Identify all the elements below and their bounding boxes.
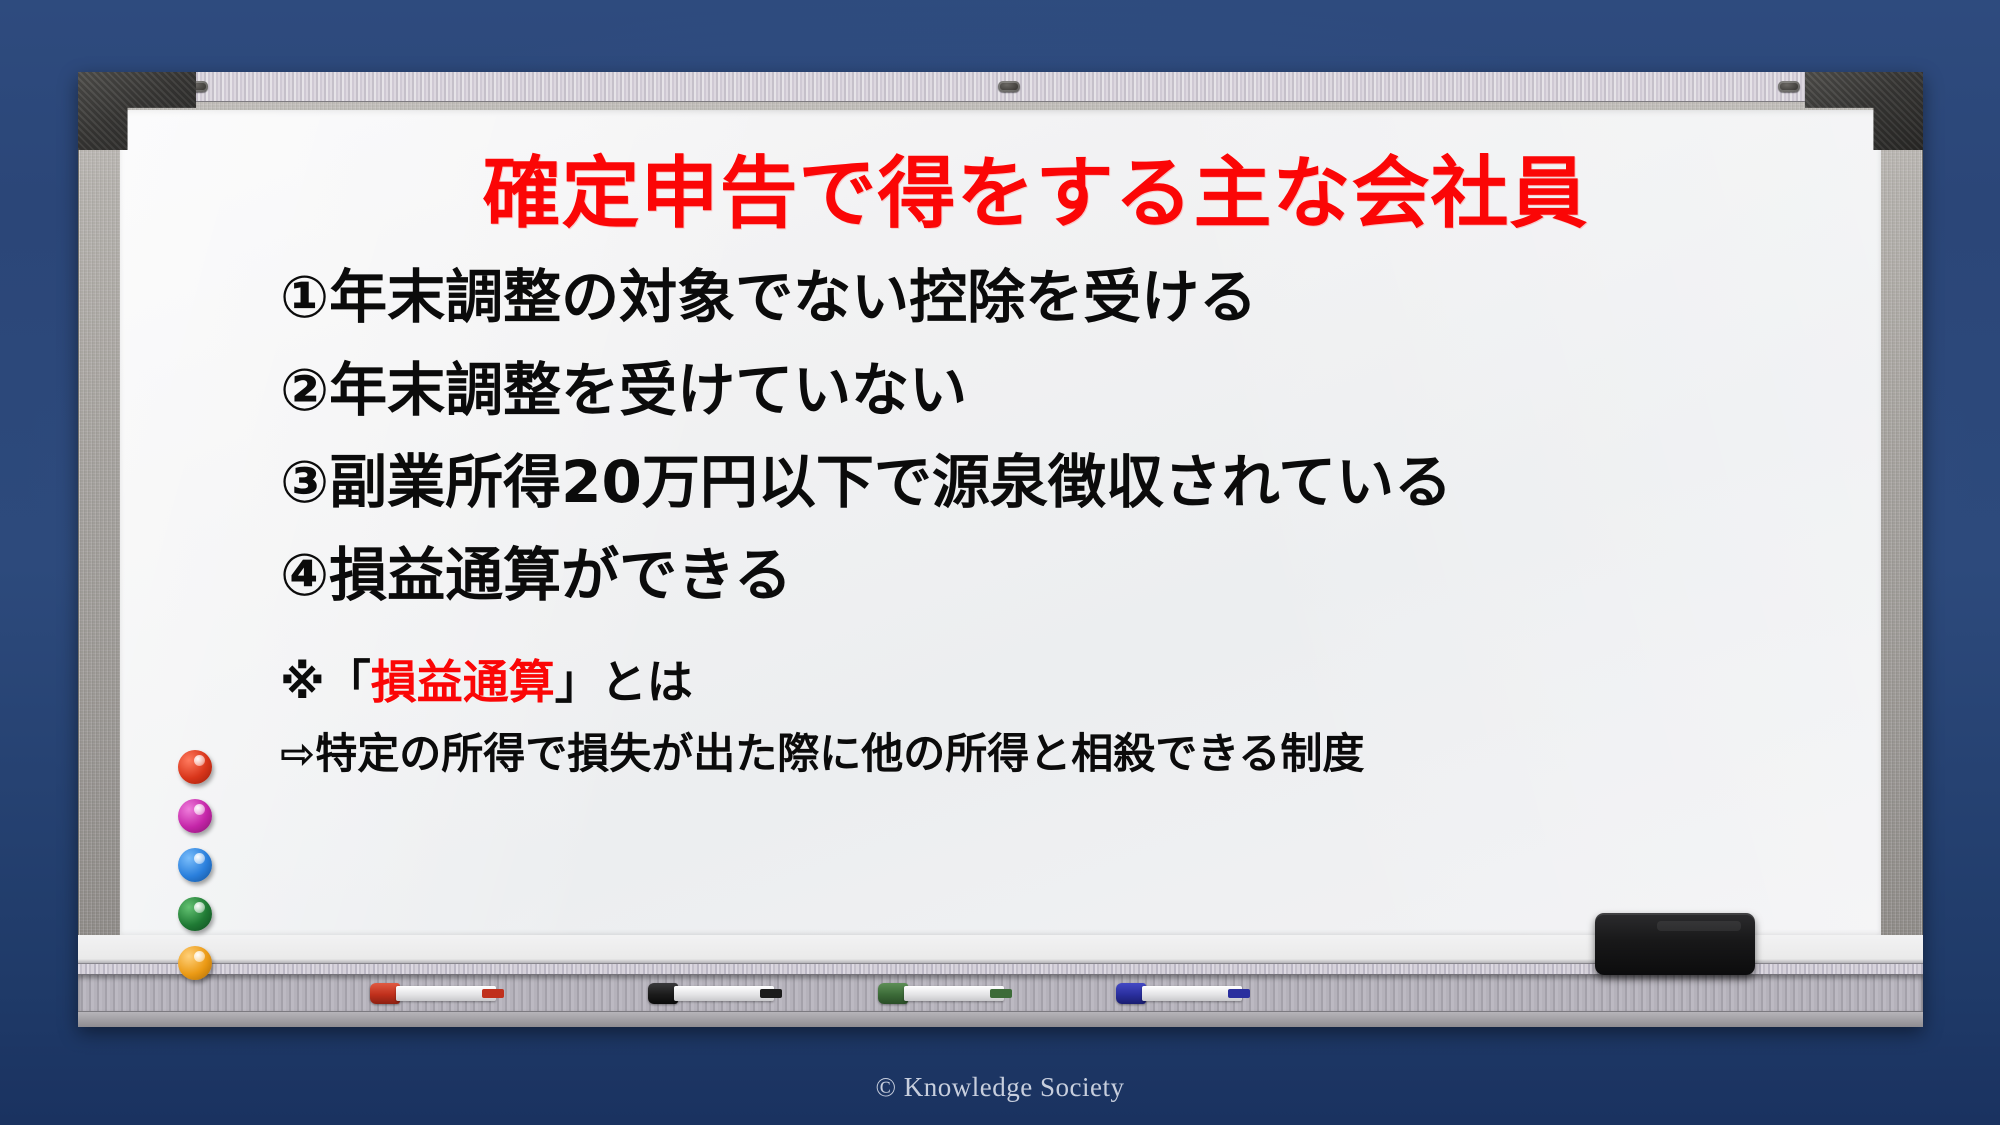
magnet-strip [178,750,212,995]
marker-tray [78,935,1923,1027]
marker-body [674,986,774,1001]
rail-screw-icon [1778,81,1800,92]
magnet-red[interactable] [178,750,212,784]
magnet-orange[interactable] [178,946,212,980]
page-title: 確定申告で得をする主な会社員 [230,154,1841,236]
whiteboard: 確定申告で得をする主な会社員 ①年末調整の対象でない控除を受ける ②年末調整を受… [78,72,1923,1027]
list-item-1: ①年末調整の対象でない控除を受ける [280,266,1841,329]
list-item-2: ②年末調整を受けていない [280,359,1841,422]
note-block: ※「損益通算」とは ⇨特定の所得で損失が出た際に他の所得と相殺できる制度 [280,646,1841,781]
note-prefix: ※「 [280,655,371,709]
marker-tip [760,989,782,998]
rail-screw-icon [998,81,1020,92]
marker-tip [990,989,1012,998]
marker-body [396,986,496,1001]
board-content: 確定申告で得をする主な会社員 ①年末調整の対象でない控除を受ける ②年末調整を受… [270,142,1841,919]
slide-stage: 確定申告で得をする主な会社員 ①年末調整の対象でない控除を受ける ②年末調整を受… [0,0,2000,1125]
list-item-4: ④損益通算ができる [280,544,1841,607]
magnet-green[interactable] [178,897,212,931]
marker-tip [1228,989,1250,998]
marker-body [1142,986,1242,1001]
note-highlight-term: 損益通算 [371,655,555,709]
magnet-blue[interactable] [178,848,212,882]
tray-base [78,1011,1923,1027]
footer-credit: © Knowledge Society [0,1072,2000,1103]
magnet-magenta[interactable] [178,799,212,833]
marker-tip [482,989,504,998]
whiteboard-eraser[interactable] [1595,913,1755,975]
whiteboard-surface: 確定申告で得をする主な会社員 ①年末調整の対象でない控除を受ける ②年末調整を受… [120,110,1881,935]
note-suffix: 」とは [555,655,693,709]
whiteboard-top-rail [78,72,1923,102]
marker-body [904,986,1004,1001]
note-definition-line: ⇨特定の所得で損失が出た際に他の所得と相殺できる制度 [280,720,1841,781]
note-term-line: ※「損益通算」とは [280,646,1841,712]
list-item-3: ③副業所得20万円以下で源泉徴収されている [280,451,1841,514]
